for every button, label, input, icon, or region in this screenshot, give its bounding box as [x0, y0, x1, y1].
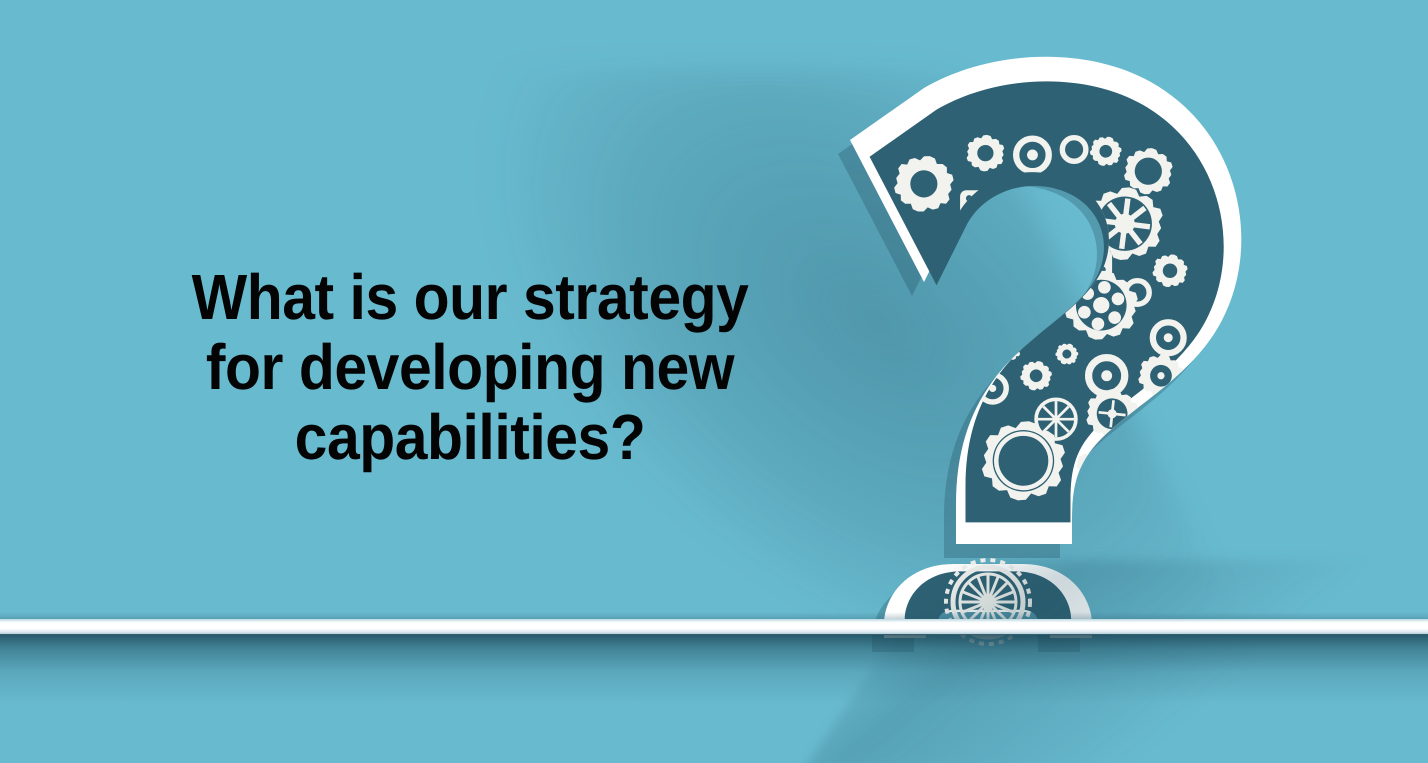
question-mark-graphic	[806, 52, 1306, 652]
page-title: What is our strategy for developing new …	[93, 262, 847, 472]
slide-canvas: What is our strategy for developing new …	[0, 0, 1428, 763]
horizon-line	[0, 619, 1428, 635]
